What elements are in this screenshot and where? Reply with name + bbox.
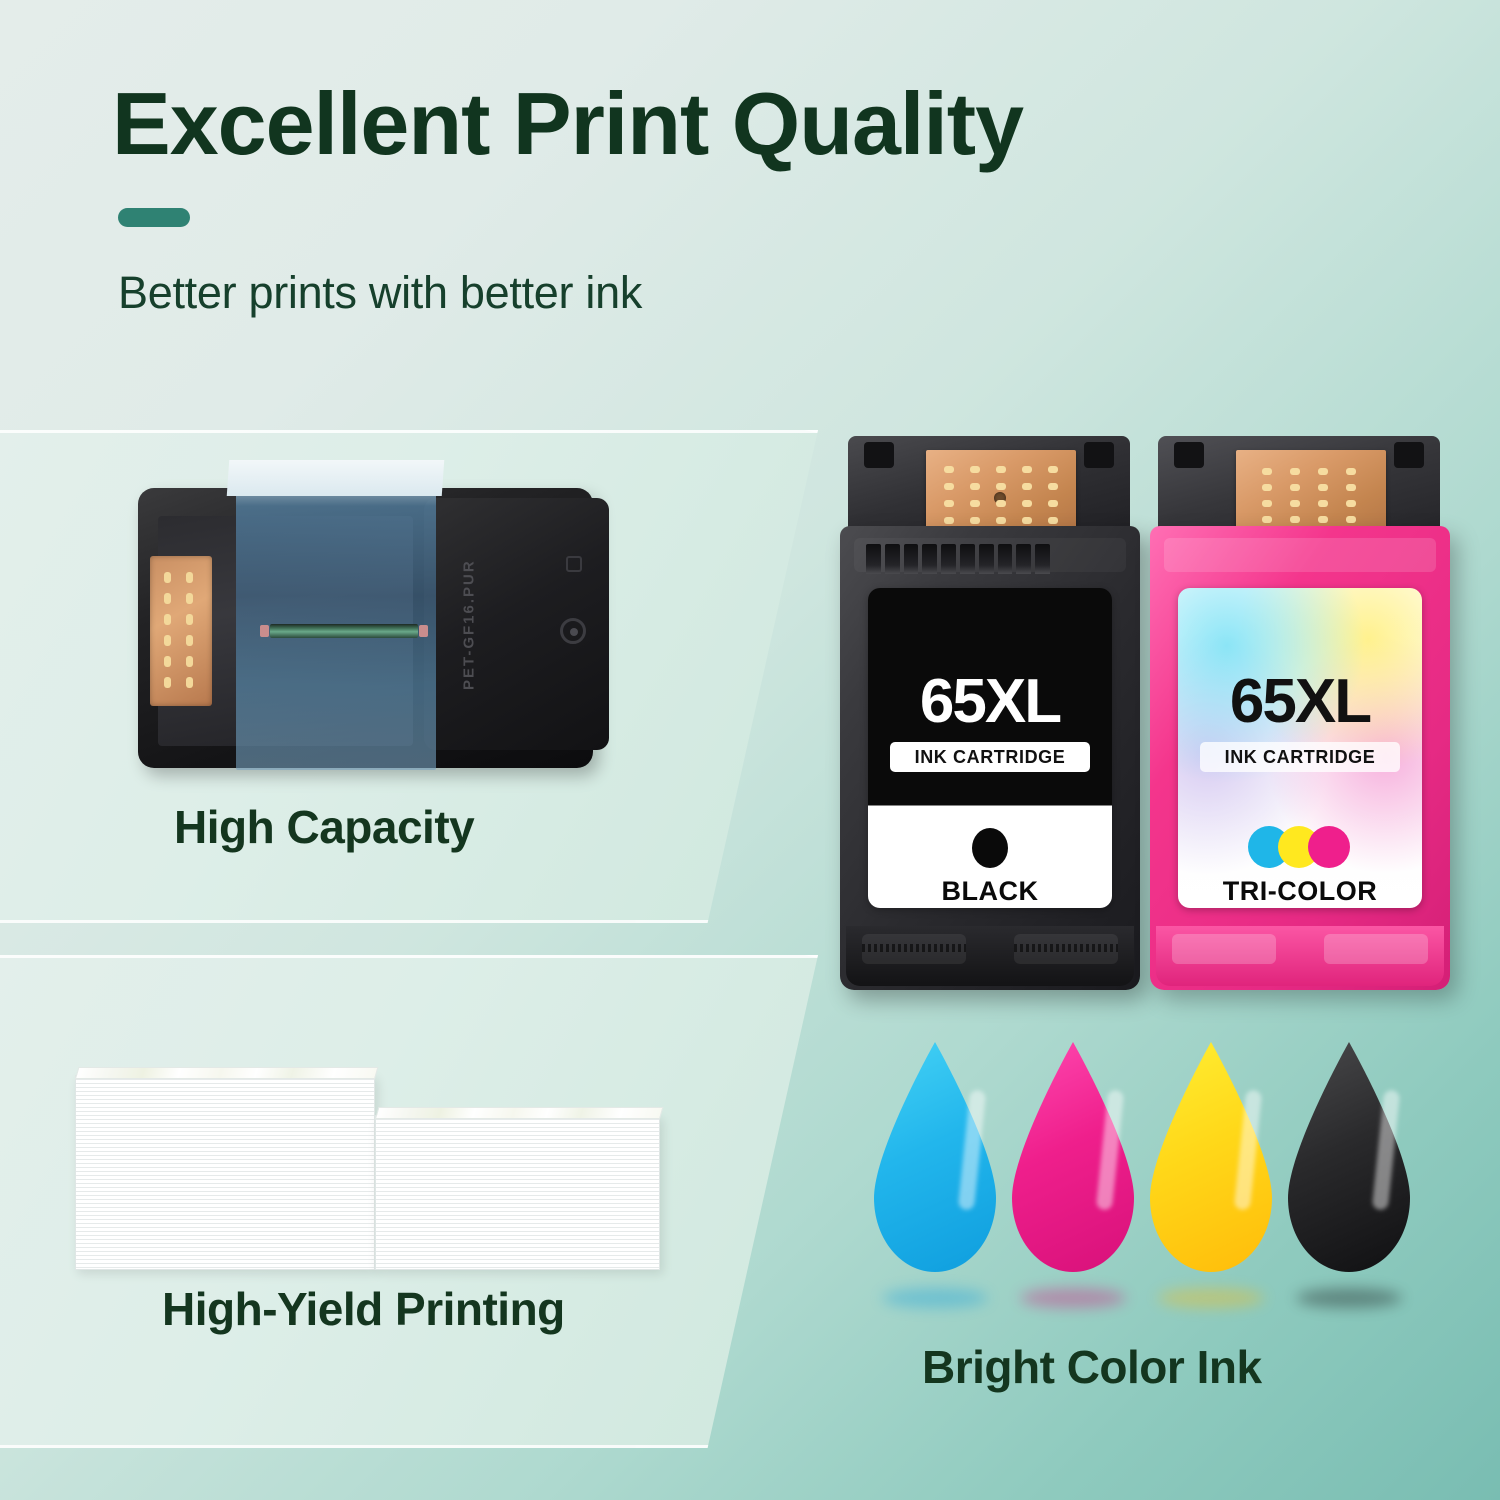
cartridge-label: 65XL INK CARTRIDGE TRI-COLOR xyxy=(1178,588,1422,908)
printhead-molding-text: PET-GF16.PUR xyxy=(454,530,484,720)
paper-stacks xyxy=(70,1030,710,1270)
page-title: Excellent Print Quality xyxy=(112,78,1412,170)
cartridge-label: 65XL INK CARTRIDGE BLACK xyxy=(868,588,1112,908)
ink-drop-cyan-icon xyxy=(874,1042,996,1272)
cartridge-foot-teeth-right xyxy=(1014,944,1118,952)
printhead-nozzle-slit xyxy=(270,624,418,638)
ink-drop-yellow-icon xyxy=(1150,1042,1272,1272)
cartridge-foot-tab-right xyxy=(1324,934,1428,964)
cartridge-type-text: INK CARTRIDGE xyxy=(1200,742,1400,772)
printhead-circle-mark xyxy=(560,618,586,644)
feature-caption-high-yield: High-Yield Printing xyxy=(162,1282,565,1336)
printhead-chip xyxy=(150,556,212,706)
accent-dash xyxy=(118,208,190,227)
printhead-tape-tab xyxy=(227,460,445,496)
cartridge-foot xyxy=(846,926,1134,986)
cartridge-notch-left xyxy=(864,442,894,468)
black-ink-dot-icon xyxy=(972,828,1008,868)
printhead-photo: PET-GF16.PUR xyxy=(128,478,618,778)
paper-stack-short xyxy=(375,1115,660,1270)
cartridge-black: Don't remove this chip 65XL INK CARTRIDG… xyxy=(840,430,1140,990)
cartridge-model-text: 65XL xyxy=(868,666,1112,737)
cartridge-model-text: 65XL xyxy=(1178,666,1422,737)
cartridge-shoulder xyxy=(1164,538,1436,572)
ink-drop-magenta-icon xyxy=(1012,1042,1134,1272)
cartridge-vent-comb xyxy=(866,544,1050,574)
cartridge-foot-tab-left xyxy=(1172,934,1276,964)
paper-stack-top-sheet xyxy=(375,1107,663,1119)
cartridge-type-text: INK CARTRIDGE xyxy=(890,742,1090,772)
paper-stack-top-sheet xyxy=(75,1067,378,1079)
cartridge-notch-left xyxy=(1174,442,1204,468)
page-subtitle: Better prints with better ink xyxy=(118,267,1412,319)
cartridge-body: 65XL INK CARTRIDGE BLACK xyxy=(840,526,1140,990)
cartridge-color-name: BLACK xyxy=(868,876,1112,907)
cartridge-notch-right xyxy=(1394,442,1424,468)
paper-stack-tall xyxy=(75,1075,375,1270)
printhead-protective-tape xyxy=(236,470,436,770)
cartridge-pair: Don't remove this chip 65XL INK CARTRIDG… xyxy=(840,430,1460,995)
printhead-square-mark xyxy=(566,556,582,572)
feature-caption-bright-color-ink: Bright Color Ink xyxy=(922,1340,1262,1394)
tri-color-dots-icon xyxy=(1248,826,1352,868)
cartridge-notch-right xyxy=(1084,442,1114,468)
cartridge-tri-color: 65XL INK CARTRIDGE TRI-COLOR xyxy=(1150,430,1450,990)
ink-drop-group xyxy=(872,1030,1412,1320)
cartridge-color-name: TRI-COLOR xyxy=(1178,876,1422,907)
cartridge-foot xyxy=(1156,926,1444,986)
cartridge-foot-teeth-left xyxy=(862,944,966,952)
ink-drop-black-icon xyxy=(1288,1042,1410,1272)
feature-caption-high-capacity: High Capacity xyxy=(174,800,474,854)
header-block: Excellent Print Quality Better prints wi… xyxy=(112,78,1412,319)
cartridge-body: 65XL INK CARTRIDGE TRI-COLOR xyxy=(1150,526,1450,990)
